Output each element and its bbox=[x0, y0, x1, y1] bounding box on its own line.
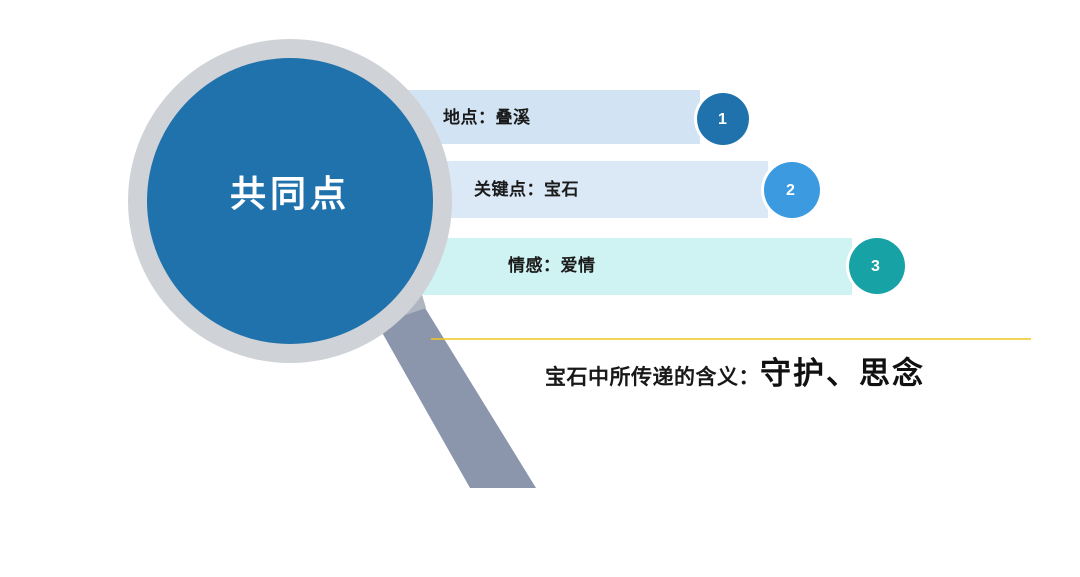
badge-number-3: 3 bbox=[871, 259, 880, 275]
badge-number-2: 2 bbox=[786, 183, 795, 199]
badge-number-1: 1 bbox=[718, 112, 727, 128]
bar-label-1: 地点：叠溪 bbox=[443, 109, 531, 126]
footer-prefix-text: 宝石中所传递的含义： bbox=[545, 366, 760, 389]
footer-note: 宝石中所传递的含义：守护、思念 bbox=[430, 358, 1040, 389]
bar-label-3: 情感：爱情 bbox=[508, 257, 596, 274]
slide-graphics bbox=[0, 0, 1080, 577]
bar-label-2: 关键点：宝石 bbox=[474, 181, 579, 198]
lens-title: 共同点 bbox=[135, 176, 445, 212]
slide-canvas: 共同点 地点：叠溪 关键点：宝石 情感：爱情 1 2 3 宝石中所传递的含义：守… bbox=[0, 0, 1080, 577]
footer-highlight-text: 守护、思念 bbox=[760, 356, 925, 391]
